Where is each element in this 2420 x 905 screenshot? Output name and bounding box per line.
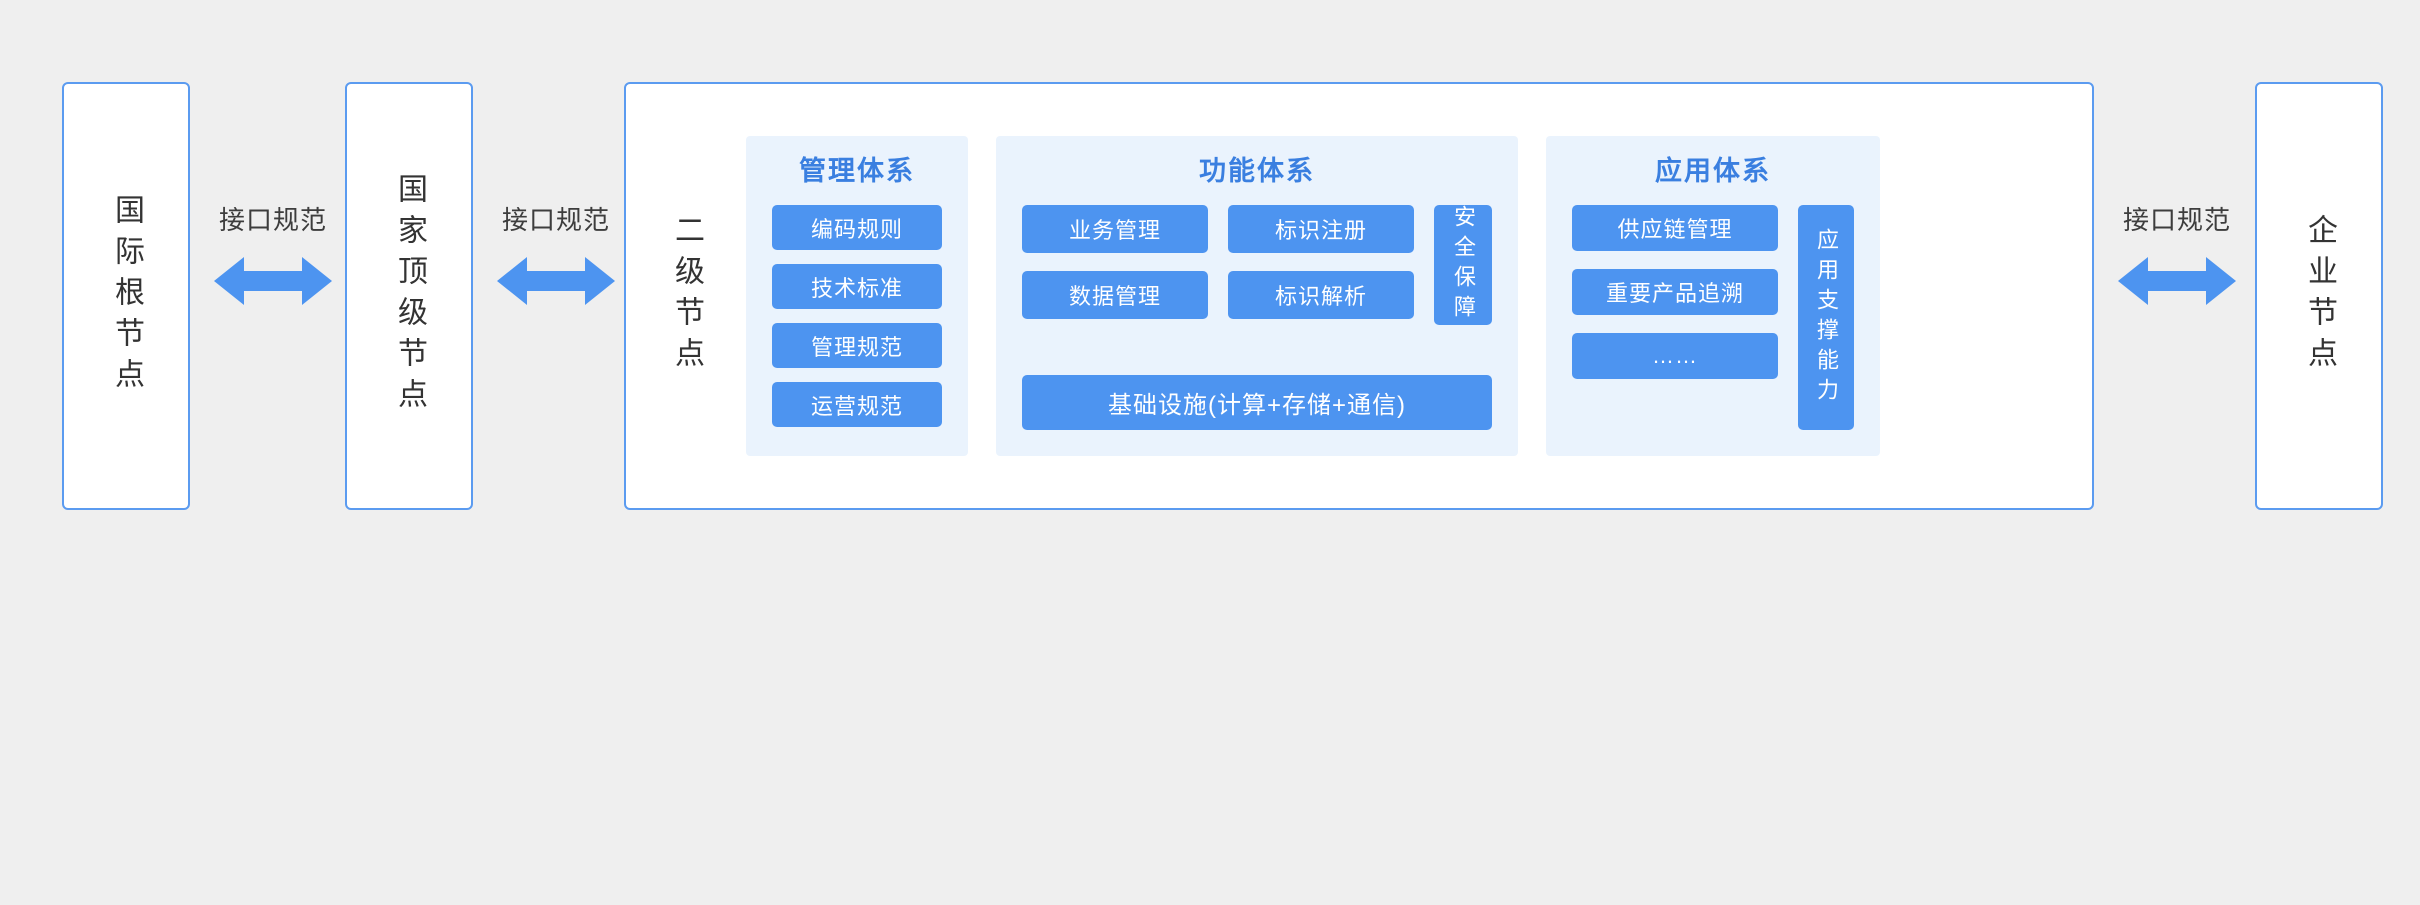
chip-identifier-resolution[interactable]: 标识解析	[1228, 271, 1414, 319]
chip-application-support-capability[interactable]: 应用支撑能力	[1798, 205, 1854, 430]
double-arrow-icon	[497, 255, 615, 307]
connector-3-label: 接口规范	[2123, 200, 2231, 237]
panel-management[interactable]: 管理体系 编码规则 技术标准 管理规范 运营规范	[746, 136, 968, 456]
chip-coding-rules[interactable]: 编码规则	[772, 205, 942, 250]
panel-application[interactable]: 应用体系 供应链管理 重要产品追溯 …… 应用支撑能力	[1546, 136, 1880, 456]
chip-security-assurance[interactable]: 安全保障	[1434, 205, 1492, 325]
panel-management-items: 编码规则 技术标准 管理规范 运营规范	[772, 205, 942, 430]
panel-functional-title: 功能体系	[1022, 158, 1492, 185]
panel-functional-body: 业务管理 标识注册 数据管理 标识解析 安全保障	[1022, 205, 1492, 375]
chip-identifier-registration[interactable]: 标识注册	[1228, 205, 1414, 253]
panel-functional-left: 业务管理 标识注册 数据管理 标识解析	[1022, 205, 1414, 375]
panel-management-title: 管理体系	[772, 158, 942, 185]
connector-1: 接口规范	[198, 200, 348, 307]
functional-row-2: 数据管理 标识解析	[1022, 271, 1414, 319]
node-enterprise[interactable]: 企业节点	[2255, 82, 2383, 510]
chip-technical-standards[interactable]: 技术标准	[772, 264, 942, 309]
double-arrow-icon	[214, 255, 332, 307]
panel-functional[interactable]: 功能体系 业务管理 标识注册 数据管理 标识解析 安全保障	[996, 136, 1518, 456]
diagram-canvas: 国际根节点 接口规范 国家顶级节点 接口规范 二级节点 管理体系	[0, 0, 2420, 592]
connector-2: 接口规范	[481, 200, 631, 307]
connector-2-label: 接口规范	[502, 200, 610, 237]
chip-supply-chain-management[interactable]: 供应链管理	[1572, 205, 1778, 251]
panel-application-left: 供应链管理 重要产品追溯 ……	[1572, 205, 1778, 430]
node-international-root-label: 国际根节点	[111, 194, 141, 399]
functional-row-1: 业务管理 标识注册	[1022, 205, 1414, 253]
panel-application-title: 应用体系	[1572, 158, 1854, 185]
connector-1-label: 接口规范	[219, 200, 327, 237]
panel-application-body: 供应链管理 重要产品追溯 …… 应用支撑能力	[1572, 205, 1854, 430]
node-second-level-label-wrap: 二级节点	[626, 214, 746, 378]
node-national-top-label: 国家顶级节点	[394, 173, 424, 419]
panel-functional-right: 安全保障	[1434, 205, 1492, 375]
chip-infrastructure[interactable]: 基础设施(计算+存储+通信)	[1022, 375, 1492, 430]
double-arrow-icon	[2118, 255, 2236, 307]
node-second-level-label: 二级节点	[671, 214, 701, 378]
node-second-level[interactable]: 二级节点 管理体系 编码规则 技术标准 管理规范 运营规范 功能体系	[624, 82, 2094, 510]
chip-ellipsis[interactable]: ……	[1572, 333, 1778, 379]
chip-business-management[interactable]: 业务管理	[1022, 205, 1208, 253]
connector-3: 接口规范	[2102, 200, 2252, 307]
node-enterprise-label: 企业节点	[2304, 214, 2334, 378]
panel-application-right: 应用支撑能力	[1798, 205, 1854, 430]
chip-management-specs[interactable]: 管理规范	[772, 323, 942, 368]
chip-product-traceability[interactable]: 重要产品追溯	[1572, 269, 1778, 315]
chip-operation-specs[interactable]: 运营规范	[772, 382, 942, 427]
chip-data-management[interactable]: 数据管理	[1022, 271, 1208, 319]
node-national-top[interactable]: 国家顶级节点	[345, 82, 473, 510]
panels-group: 管理体系 编码规则 技术标准 管理规范 运营规范 功能体系 业务管理 标识注册	[746, 136, 2092, 456]
node-international-root[interactable]: 国际根节点	[62, 82, 190, 510]
